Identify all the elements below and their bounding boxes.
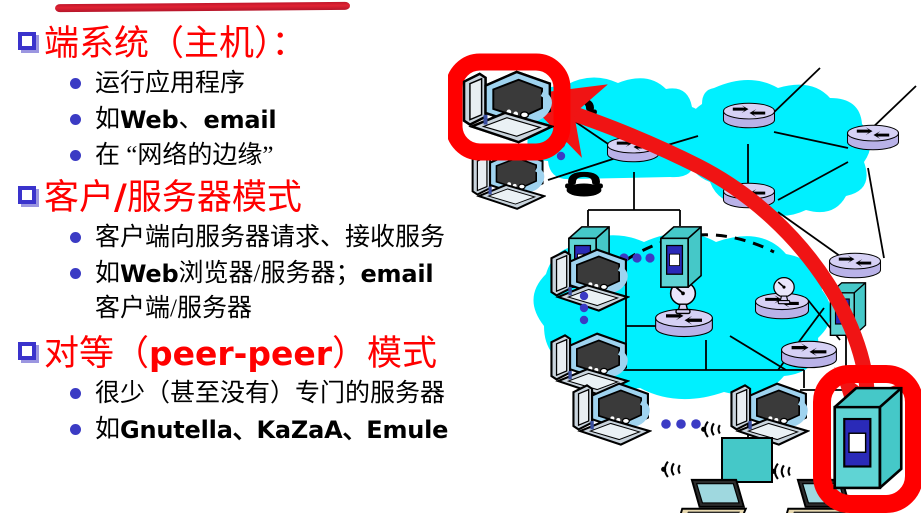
outline-item-p2p-examples[interactable]: 如 Gnutella、KaZaA、Emule bbox=[0, 412, 520, 448]
outline-item-web-browser-server-latin2: email bbox=[360, 256, 433, 292]
outline-item-client-requests[interactable]: 客户端向服务器请求、接收服务 bbox=[0, 220, 520, 256]
outline-item-web-email[interactable]: 如Web、email bbox=[0, 102, 520, 138]
outline-item-peer-peer-part-a: 对等（ bbox=[44, 332, 149, 376]
outline-item-web-browser-server[interactable]: 如Web浏览器/服务器；email bbox=[0, 256, 520, 292]
outline-item-peer-peer-part-b: ）模式 bbox=[332, 332, 437, 376]
outline-item-end-systems-label: 端系统（主机）： bbox=[44, 22, 307, 66]
network-edge-diagram bbox=[448, 40, 921, 513]
outline-item-client-server-part-a: 客户 bbox=[44, 176, 114, 220]
wireless-waves-icon bbox=[661, 462, 680, 477]
slide-canvas: 端系统（主机）： 运行应用程序 如Web、email 在 “网络的边缘” 客户/… bbox=[0, 0, 921, 513]
dot-bullet-icon bbox=[70, 150, 81, 161]
ellipsis-marker bbox=[661, 419, 701, 429]
outline-item-peer-peer[interactable]: 对等（peer-peer）模式 bbox=[0, 332, 520, 376]
ellipsis-marker bbox=[580, 292, 588, 324]
outline-item-web-email-latin2: email bbox=[204, 102, 277, 138]
outline-item-few-servers-label: 很少（甚至没有）专门的服务器 bbox=[95, 376, 445, 412]
outline-item-network-edge-label: 在 “网络的边缘” bbox=[95, 138, 273, 174]
outline-item-end-systems[interactable]: 端系统（主机）： bbox=[0, 22, 520, 66]
router-icon[interactable] bbox=[782, 341, 837, 367]
outline-item-client-server-part-b: 服务器模式 bbox=[127, 176, 302, 220]
outline-item-web-browser-server-mid: 浏览器/服务器； bbox=[179, 256, 361, 292]
outline-item-web-browser-server-prefix: 如 bbox=[95, 256, 120, 292]
dot-bullet-icon bbox=[70, 114, 81, 125]
outline-item-client-server-slash: / bbox=[114, 176, 127, 220]
router-icon[interactable] bbox=[829, 253, 880, 278]
outline-item-web-email-sep: 、 bbox=[179, 102, 204, 138]
router-icon[interactable] bbox=[847, 125, 898, 150]
wireless-access-point-icon[interactable] bbox=[722, 438, 772, 482]
server-icon[interactable] bbox=[661, 227, 701, 287]
outline-item-run-apps-label: 运行应用程序 bbox=[95, 66, 245, 102]
router-icon[interactable] bbox=[723, 103, 774, 128]
wireless-waves-icon bbox=[771, 464, 790, 479]
outline-item-few-servers[interactable]: 很少（甚至没有）专门的服务器 bbox=[0, 376, 520, 412]
outline-item-p2p-examples-prefix: 如 bbox=[95, 412, 120, 448]
square-bullet-icon bbox=[18, 342, 36, 360]
outline-item-web-email-prefix: 如 bbox=[95, 102, 120, 138]
outline-item-client-requests-label: 客户端向服务器请求、接收服务 bbox=[95, 220, 445, 256]
outline-item-web-email-latin: Web bbox=[120, 102, 178, 138]
square-bullet-icon bbox=[18, 32, 36, 50]
outline-text-column: 端系统（主机）： 运行应用程序 如Web、email 在 “网络的边缘” 客户/… bbox=[0, 22, 520, 448]
outline-item-p2p-examples-latin: Gnutella、KaZaA、Emule bbox=[120, 412, 448, 448]
telephone-icon[interactable] bbox=[565, 172, 603, 197]
server-icon-highlighted[interactable] bbox=[835, 388, 902, 488]
laptop-icon[interactable] bbox=[678, 480, 745, 513]
cloud-core-net-upper-right bbox=[687, 80, 871, 216]
outline-item-web-browser-server-latin: Web bbox=[120, 256, 178, 292]
square-bullet-icon bbox=[18, 186, 36, 204]
desktop-pc-icon[interactable] bbox=[573, 384, 649, 445]
outline-item-client-server[interactable]: 客户/服务器模式 bbox=[0, 176, 520, 220]
outline-item-peer-peer-latin: peer-peer bbox=[149, 332, 332, 376]
dot-bullet-icon bbox=[70, 388, 81, 399]
dot-bullet-icon bbox=[70, 78, 81, 89]
desktop-pc-icon[interactable] bbox=[731, 384, 807, 445]
outline-item-run-apps[interactable]: 运行应用程序 bbox=[0, 66, 520, 102]
dot-bullet-icon bbox=[70, 424, 81, 435]
dot-bullet-icon bbox=[70, 232, 81, 243]
title-underline-stroke bbox=[55, 2, 350, 12]
dot-bullet-icon bbox=[70, 268, 81, 279]
wireless-waves-icon bbox=[701, 422, 720, 437]
desktop-pc-icon-highlighted[interactable] bbox=[464, 72, 552, 142]
outline-item-network-edge[interactable]: 在 “网络的边缘” bbox=[0, 138, 520, 174]
